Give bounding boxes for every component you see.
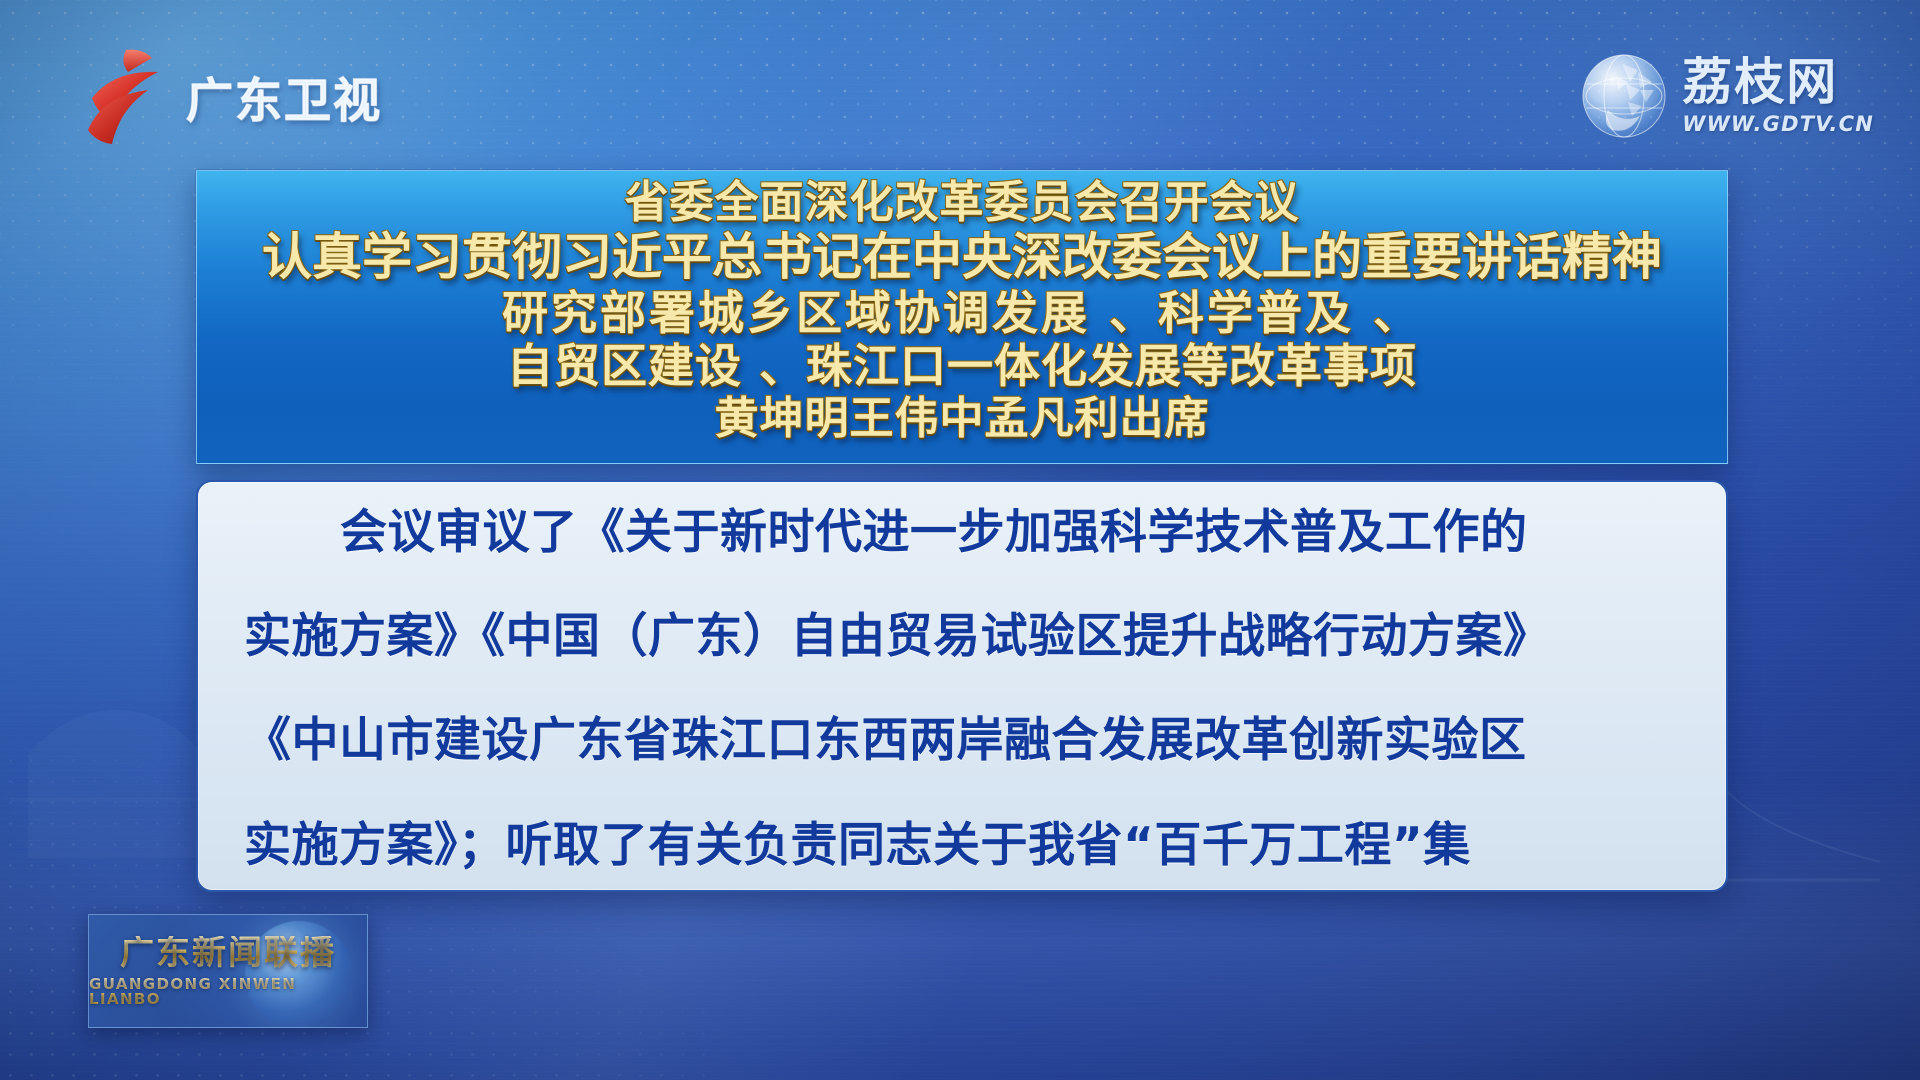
body-line-1: 会议审议了《关于新时代进一步加强科学技术普及工作的 xyxy=(244,508,1680,557)
headline-line-3: 研究部署城乡区域协调发展 、科学普及 、 xyxy=(502,290,1422,336)
body-text-panel: 会议审议了《关于新时代进一步加强科学技术普及工作的 实施方案》《中国（广东）自由… xyxy=(196,480,1728,892)
channel-name-label: 广东卫视 xyxy=(186,62,382,131)
headline-line-5: 黄坤明王伟中孟凡利出席 xyxy=(715,397,1210,441)
site-name-label: 荔枝网 xyxy=(1682,57,1874,107)
program-bug: 广东新闻联播 GUANGDONG XINWEN LIANBO xyxy=(88,914,368,1028)
program-subtitle-label: GUANGDONG XINWEN LIANBO xyxy=(89,977,367,1007)
body-line-3: 《中山市建设广东省珠江口东西两岸融合发展改革创新实验区 xyxy=(244,716,1680,765)
site-logo: 荔枝网 WWW.GDTV.CN xyxy=(1578,44,1874,148)
headline-panel: 省委全面深化改革委员会召开会议 认真学习贯彻习近平总书记在中央深改委会议上的重要… xyxy=(196,170,1728,464)
globe-icon xyxy=(1578,50,1670,142)
channel-logo: 广东卫视 xyxy=(86,42,396,150)
site-url-label: WWW.GDTV.CN xyxy=(1682,112,1874,136)
body-line-2: 实施方案》《中国（广东）自由贸易试验区提升战略行动方案》 xyxy=(244,612,1680,661)
headline-line-2: 认真学习贯彻习近平总书记在中央深改委会议上的重要讲话精神 xyxy=(262,232,1662,282)
body-line-4: 实施方案》；听取了有关负责同志关于我省“百千万工程”集 xyxy=(244,821,1680,870)
broadcast-screen: 广东卫视 xyxy=(0,0,1920,1080)
guangdong-tv-bird-logo-icon xyxy=(86,46,182,146)
headline-line-1: 省委全面深化改革委员会召开会议 xyxy=(625,181,1300,225)
program-title-label: 广东新闻联播 xyxy=(120,936,336,970)
headline-line-4: 自贸区建设 、珠江口一体化发展等改革事项 xyxy=(507,343,1417,389)
